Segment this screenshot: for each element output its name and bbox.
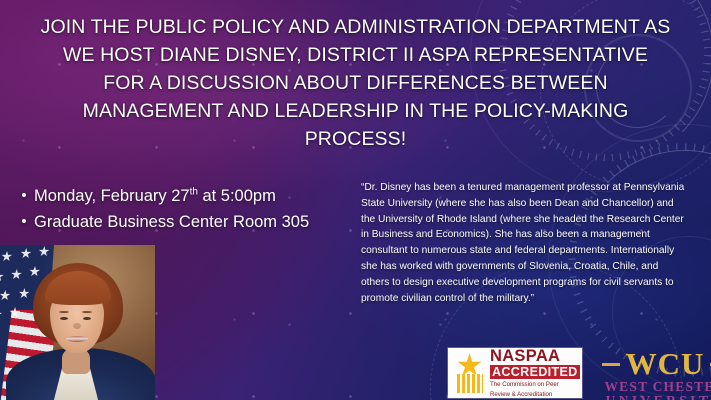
event-details-list: • Monday, February 27th at 5:00pm • Grad… xyxy=(14,183,354,235)
naspaa-wordmark: NASPAA xyxy=(490,348,580,364)
naspaa-star-columns-icon xyxy=(453,352,487,394)
list-item: • Graduate Business Center Room 305 xyxy=(14,209,354,235)
event-flyer: JOIN THE PUBLIC POLICY AND ADMINISTRATIO… xyxy=(0,0,711,400)
page-title: JOIN THE PUBLIC POLICY AND ADMINISTRATIO… xyxy=(40,13,671,153)
bullet-icon: • xyxy=(14,209,34,235)
wcu-rule-left xyxy=(602,363,620,366)
speaker-portrait xyxy=(0,245,155,400)
naspaa-subtitle-line1: The Commission on Peer xyxy=(490,381,580,389)
naspaa-accredited-band: ACCREDITED xyxy=(490,365,580,379)
list-item: • Monday, February 27th at 5:00pm xyxy=(14,183,354,209)
naspaa-accredited-logo: NASPAA ACCREDITED The Commission on Peer… xyxy=(448,348,582,398)
wcu-acronym: WCU xyxy=(626,348,705,380)
speaker-bio-quote: “Dr. Disney has been a tenured managemen… xyxy=(361,180,687,306)
columns-icon xyxy=(457,374,483,393)
portrait-nose xyxy=(73,323,81,329)
portrait-mouth xyxy=(66,336,88,342)
wcu-name-line2: UNIVERSITY xyxy=(600,394,711,400)
wcu-name-line1: WEST CHESTER xyxy=(600,380,711,394)
ordinal-suffix: th xyxy=(190,187,198,198)
wcu-logo: WCU WEST CHESTER UNIVERSITY xyxy=(600,348,711,400)
event-location: Graduate Business Center Room 305 xyxy=(34,209,309,235)
event-date-time: Monday, February 27th at 5:00pm xyxy=(34,183,276,209)
bullet-icon: • xyxy=(14,183,34,209)
naspaa-subtitle-line2: Review & Accreditation xyxy=(490,391,580,399)
